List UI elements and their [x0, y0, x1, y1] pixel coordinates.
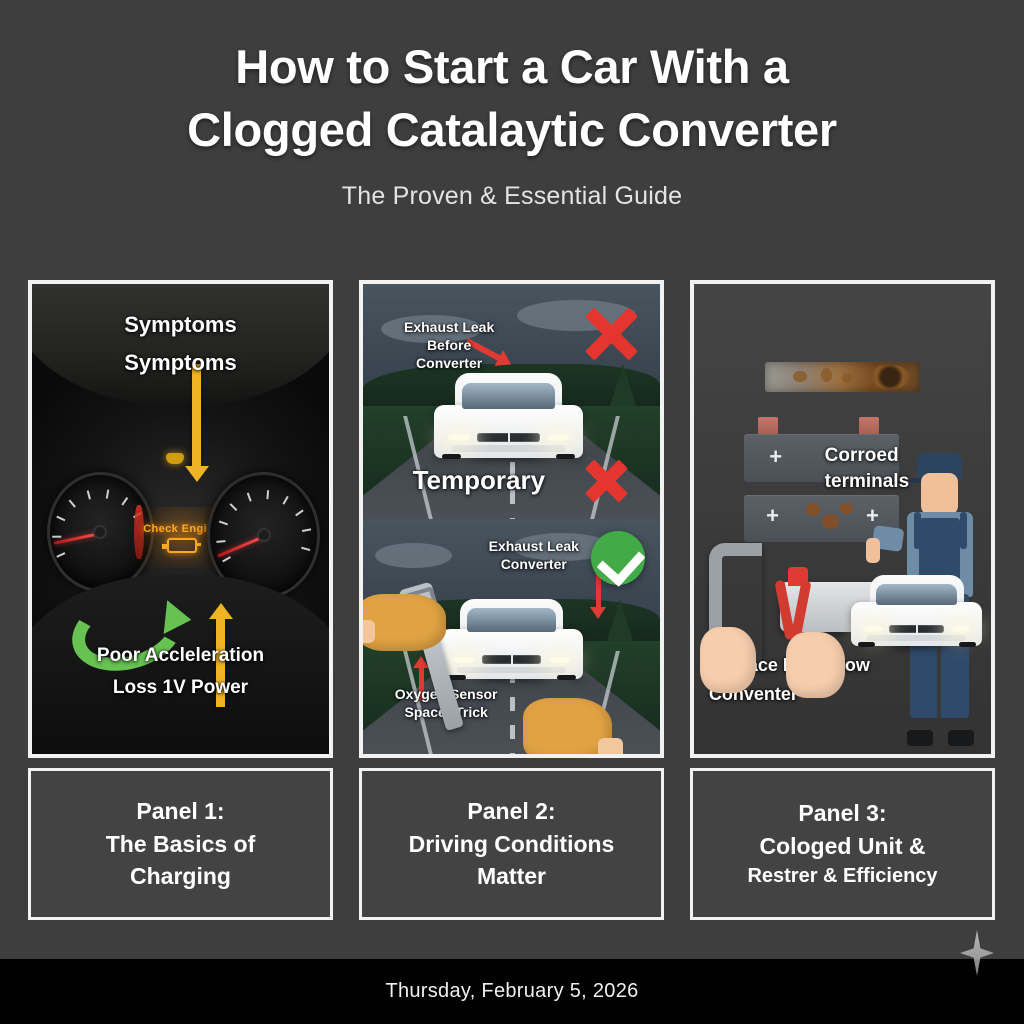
panel-1-caption: Panel 1: The Basics of Charging: [28, 768, 333, 920]
panel-3: + + +: [690, 280, 995, 920]
panel-1-top-label-line-1: Symptoms: [32, 312, 329, 339]
poster-header: How to Start a Car With a Clogged Catala…: [0, 36, 1024, 211]
gloved-hand-right: [523, 698, 612, 754]
mechanic-boot-right: [948, 730, 975, 747]
hand-fist: [700, 627, 756, 693]
glove-cuff: [363, 620, 375, 643]
car-tire-right: [557, 675, 576, 680]
title-line-2: Clogged Catalaytic Converter: [0, 99, 1024, 162]
panel-3-caption-line-1: Panel 3:: [798, 797, 886, 830]
car-headlight-right: [549, 657, 570, 663]
panel-2: Exhaust Leak Before Converter Temporary …: [359, 280, 664, 920]
engine-outline-icon: [167, 538, 197, 553]
panel-2-top-note-line-2: Before: [375, 337, 524, 354]
white-car-small: [851, 575, 982, 646]
car-tire-right: [556, 454, 575, 460]
car-body: [440, 629, 583, 679]
car-grille: [889, 625, 944, 633]
panel-2-caption: Panel 2: Driving Conditions Matter: [359, 768, 664, 920]
overall-strap-right: [960, 512, 967, 549]
rust-spot: [793, 371, 807, 383]
battery-plus-symbol: +: [769, 446, 782, 468]
panel-3-caption-line-2: Cologed Unit &: [759, 830, 925, 863]
mechanic-hand-left: [866, 538, 880, 563]
car-tire-left: [442, 454, 461, 460]
red-x-icon-top: [580, 303, 642, 365]
car-headlight-left: [453, 657, 474, 663]
corrosion-spot: [806, 503, 820, 515]
corroded-metal-strip: [765, 362, 919, 393]
panel-1-caption-line-3: Charging: [130, 860, 231, 893]
white-car-front-view: [440, 599, 583, 679]
panel-2-caption-line-3: Matter: [477, 860, 546, 893]
conifer-tree: [610, 364, 636, 406]
car-grille: [477, 433, 539, 442]
glove-palm: [363, 594, 446, 650]
car-bumper: [452, 445, 565, 451]
glove-cuff: [598, 738, 623, 754]
panel-2-top-note-line-3: Converter: [375, 355, 524, 372]
panel-3-battery-note-line-1: Corroed: [825, 444, 985, 467]
infographic-poster: How to Start a Car With a Clogged Catala…: [0, 0, 1024, 1024]
page-title: How to Start a Car With a Clogged Catala…: [0, 36, 1024, 161]
car-headlight-right: [951, 626, 971, 632]
hand-gripping-pipe: [700, 627, 756, 693]
car-grille: [482, 655, 542, 664]
panel-1-caption-line-1: Panel 1:: [136, 795, 224, 828]
panel-2-caption-line-1: Panel 2:: [467, 795, 555, 828]
hand-holding-pliers: [786, 632, 845, 698]
panel-1-top-label-line-2: Symptoms: [32, 350, 329, 377]
car-tire-right: [959, 642, 976, 647]
poster-footer: Thursday, February 5, 2026: [0, 959, 1024, 1024]
rust-spot: [821, 368, 832, 381]
corrosion-spot: [822, 514, 839, 529]
conifer-tree: [607, 599, 633, 641]
panel-3-artwork: + + +: [690, 280, 995, 758]
title-line-1: How to Start a Car With a: [0, 36, 1024, 99]
mechanic-boot-left: [907, 730, 934, 747]
sparkle-star-icon: [960, 930, 994, 976]
panel-1: Check Engine: [28, 280, 333, 920]
corrosion-spot: [840, 503, 852, 514]
red-x-icon-bottom: [582, 457, 630, 505]
panel-1-bottom-label-line-2: Loss 1V Power: [32, 676, 329, 699]
car-headlight-right: [547, 434, 569, 441]
car-headlight-left: [448, 434, 470, 441]
battery-plus-symbol: +: [766, 505, 779, 527]
hand-fist: [786, 632, 845, 698]
panel-3-caption: Panel 3: Cologed Unit & Restrer & Effici…: [690, 768, 995, 920]
green-check-icon: [591, 531, 645, 585]
panel-1-caption-line-2: The Basics of: [106, 828, 256, 861]
tachometer-gauge: [47, 472, 154, 592]
cloud: [375, 543, 452, 569]
rust-hole: [870, 365, 910, 389]
car-headlight-left: [863, 626, 883, 632]
yellow-down-arrow-icon: [192, 364, 201, 467]
panel-1-bottom-label-line-1: Poor Accleleration: [32, 644, 329, 667]
panel-1-artwork: Check Engine: [28, 280, 333, 758]
battery-plus-symbol: +: [866, 505, 879, 527]
footer-date: Thursday, February 5, 2026: [385, 980, 638, 1003]
panel-row: Check Engine: [28, 280, 996, 920]
car-body: [851, 602, 982, 646]
rust-spot: [842, 373, 851, 383]
gloved-hand-left: [363, 594, 446, 650]
check-engine-light-icon: [166, 453, 184, 464]
car-windshield: [467, 608, 555, 632]
panel-2-temporary-banner: Temporary: [369, 465, 589, 497]
car-body: [434, 405, 583, 457]
car-bumper: [457, 667, 565, 673]
panel-2-caption-line-2: Driving Conditions: [409, 828, 615, 861]
page-subtitle: The Proven & Essential Guide: [0, 182, 1024, 211]
workshop-scene: + + +: [694, 284, 991, 754]
sparkle-star-shape: [960, 930, 994, 976]
white-car-front-view: [434, 373, 583, 458]
car-windshield: [462, 383, 554, 408]
car-windshield: [876, 584, 957, 605]
panel-3-caption-line-3: Restrer & Efficiency: [747, 862, 937, 890]
car-tire-left: [858, 642, 875, 647]
panel-2-artwork: Exhaust Leak Before Converter Temporary …: [359, 280, 664, 758]
car-bumper: [867, 635, 966, 640]
panel-2-top-note-line-1: Exhaust Leak: [375, 319, 524, 336]
panel-3-battery-note-line-2: terminals: [825, 470, 985, 493]
dashboard-hood: [28, 280, 333, 406]
